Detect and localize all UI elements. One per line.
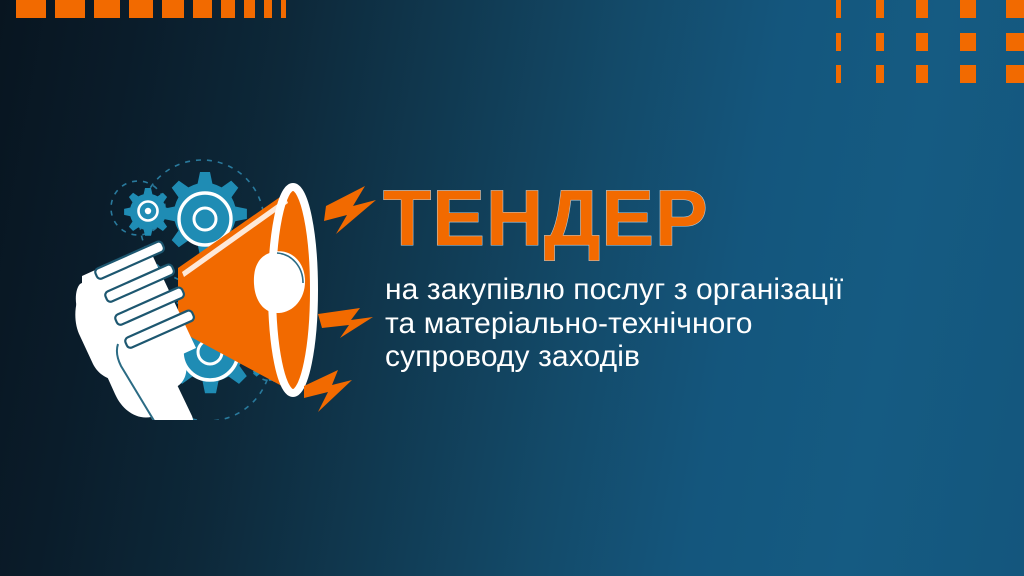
page-title: ТЕНДЕР <box>383 178 1003 258</box>
dash-5 <box>162 0 184 18</box>
grid-cell-r3-c4 <box>960 65 976 83</box>
grid-cell-r3-c5 <box>1006 65 1024 83</box>
grid-cell-r3-c3 <box>916 65 928 83</box>
grid-cell-r2-c2 <box>876 33 884 51</box>
dash-4 <box>129 0 153 18</box>
megaphone-handle <box>75 240 196 420</box>
grid-cell-r1-c5 <box>1006 0 1024 18</box>
dash-9 <box>264 0 272 18</box>
text-block: ТЕНДЕР на закупівлю послуг з організації… <box>383 178 1003 374</box>
grid-cell-r3-c2 <box>876 65 884 83</box>
subtitle-line-2: та матеріально-технічного <box>385 307 1003 341</box>
top-right-dot-grid <box>836 0 1024 84</box>
grid-cell-r1-c1 <box>836 0 841 18</box>
grid-row-3 <box>836 65 1024 83</box>
grid-cell-r1-c2 <box>876 0 884 18</box>
dash-10 <box>281 0 286 18</box>
top-left-dash-strip <box>16 0 295 18</box>
dash-6 <box>193 0 212 18</box>
grid-row-2 <box>836 33 1024 51</box>
slide-canvas: ТЕНДЕР на закупівлю послуг з організації… <box>0 0 1024 576</box>
lightning-bolt-bottom-icon <box>304 370 352 412</box>
dash-8 <box>244 0 255 18</box>
lightning-bolt-top-icon <box>324 186 376 234</box>
grid-cell-r1-c3 <box>916 0 928 18</box>
grid-cell-r2-c4 <box>960 33 976 51</box>
grid-cell-r1-c4 <box>960 0 976 18</box>
grid-cell-r3-c1 <box>836 65 841 83</box>
grid-cell-r2-c5 <box>1006 33 1024 51</box>
grid-cell-r2-c3 <box>916 33 928 51</box>
dash-1 <box>16 0 46 18</box>
megaphone-illustration <box>60 130 390 420</box>
dash-3 <box>94 0 120 18</box>
gear-small-top-icon <box>124 188 172 236</box>
subtitle-line-3: супроводу заходів <box>385 340 1003 374</box>
subtitle-line-1: на закупівлю послуг з організації <box>385 273 1003 307</box>
subtitle: на закупівлю послуг з організації та мат… <box>385 273 1003 374</box>
grid-row-1 <box>836 0 1024 18</box>
lightning-bolt-middle-icon <box>318 308 373 338</box>
dash-7 <box>221 0 235 18</box>
dash-2 <box>55 0 85 18</box>
grid-cell-r2-c1 <box>836 33 841 51</box>
